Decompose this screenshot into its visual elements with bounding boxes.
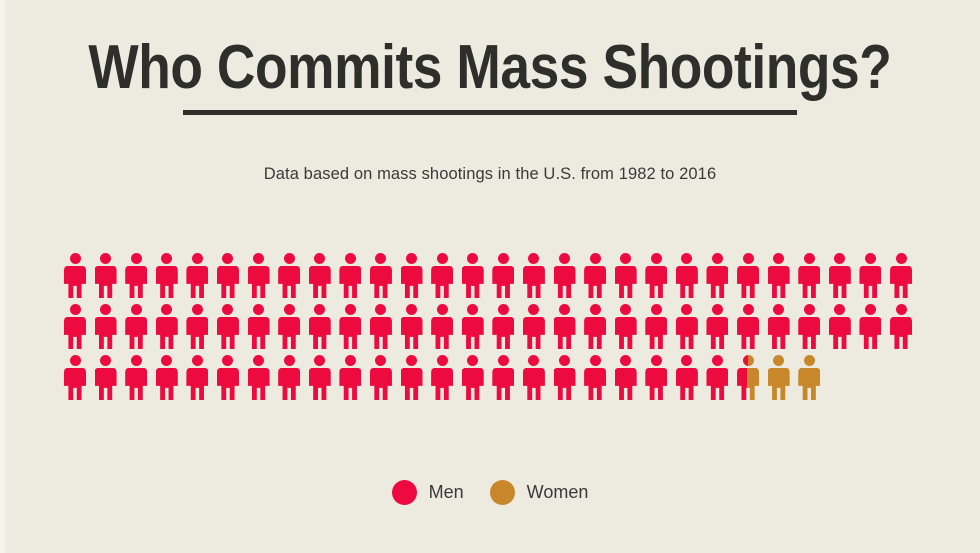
figure-body-shape — [186, 266, 208, 298]
figure-fill-men — [437, 304, 448, 315]
person-figure-icon — [615, 304, 637, 349]
figure-head — [222, 304, 233, 315]
person-figure-icon — [186, 304, 208, 349]
figure-fill-men — [804, 253, 815, 264]
figure-body-shape — [248, 266, 270, 298]
figure-body-shape — [186, 368, 208, 400]
person-figure-icon — [798, 253, 820, 298]
figure-body — [890, 317, 912, 349]
figure-body — [798, 368, 820, 400]
figure-fill-men — [559, 253, 570, 264]
person-figure-icon — [248, 355, 270, 400]
figure-body — [706, 317, 728, 349]
figure-fill-men — [681, 355, 692, 366]
figure-body — [339, 368, 361, 400]
figure-body — [829, 266, 851, 298]
person-figure-icon — [186, 253, 208, 298]
figure-head — [712, 253, 723, 264]
figure-body — [95, 317, 117, 349]
figure-fill-men — [131, 253, 142, 264]
figure-fill-men — [467, 304, 478, 315]
figure-head — [528, 304, 539, 315]
figure-fill-men — [375, 355, 386, 366]
figure-head — [498, 304, 509, 315]
legend-swatch-circle-icon — [392, 480, 417, 505]
figure-fill-men — [100, 355, 111, 366]
figure-head — [222, 253, 233, 264]
figure-body-shape — [492, 368, 514, 400]
figure-body-shape — [615, 368, 637, 400]
figure-head — [804, 355, 815, 366]
figure-head — [437, 304, 448, 315]
figure-body-shape — [370, 317, 392, 349]
figure-body — [676, 317, 698, 349]
figure-head — [192, 355, 203, 366]
figure-body — [737, 266, 759, 298]
figure-head — [284, 355, 295, 366]
figure-body-shape — [645, 317, 667, 349]
person-figure-icon — [401, 253, 423, 298]
figure-fill-men — [278, 266, 300, 298]
figure-head — [406, 253, 417, 264]
figure-body — [64, 266, 86, 298]
figure-fill-men — [222, 304, 233, 315]
figure-body-shape — [186, 317, 208, 349]
figure-fill-men — [253, 304, 264, 315]
figure-body-shape — [829, 317, 851, 349]
figure-body-shape — [278, 266, 300, 298]
figure-fill-men — [584, 266, 606, 298]
figure-body — [523, 317, 545, 349]
figure-fill-men — [406, 253, 417, 264]
figure-fill-men — [492, 368, 514, 400]
figure-fill-men — [859, 266, 881, 298]
figure-fill-men — [681, 253, 692, 264]
figure-body — [309, 317, 331, 349]
figure-fill-men — [253, 355, 264, 366]
figure-fill-men — [590, 304, 601, 315]
figure-head — [406, 304, 417, 315]
figure-body — [431, 266, 453, 298]
figure-fill-men — [743, 253, 754, 264]
figure-body — [798, 317, 820, 349]
figure-body — [217, 266, 239, 298]
figure-fill-men — [248, 368, 270, 400]
figure-fill-men — [217, 266, 239, 298]
figure-body — [645, 317, 667, 349]
figure-fill-men — [156, 266, 178, 298]
person-figure-icon — [370, 355, 392, 400]
figure-head — [620, 355, 631, 366]
legend-item-men[interactable]: Men — [392, 480, 464, 505]
person-figure-icon — [615, 355, 637, 400]
figure-body-shape — [370, 368, 392, 400]
legend-item-women[interactable]: Women — [490, 480, 589, 505]
person-figure-icon — [829, 253, 851, 298]
figure-body — [125, 317, 147, 349]
figure-fill-men — [462, 266, 484, 298]
figure-body — [462, 368, 484, 400]
person-figure-icon — [125, 253, 147, 298]
figure-body — [64, 317, 86, 349]
figure-head — [743, 355, 754, 366]
figure-body — [829, 317, 851, 349]
figure-fill-men — [309, 266, 331, 298]
person-figure-icon — [95, 304, 117, 349]
person-figure-icon — [768, 253, 790, 298]
figure-fill-men — [186, 266, 208, 298]
person-figure-icon — [645, 304, 667, 349]
figure-head — [100, 253, 111, 264]
figure-head — [620, 304, 631, 315]
figure-body-shape — [95, 266, 117, 298]
figure-body-shape — [431, 317, 453, 349]
figure-body-shape — [584, 266, 606, 298]
figure-fill-men — [834, 253, 845, 264]
figure-head — [375, 304, 386, 315]
person-figure-icon — [339, 253, 361, 298]
figure-head — [498, 355, 509, 366]
figure-fill-men — [278, 317, 300, 349]
figure-body — [278, 368, 300, 400]
figure-body-shape — [615, 266, 637, 298]
figure-fill-men — [156, 317, 178, 349]
figure-fill-men — [681, 304, 692, 315]
figure-fill-men — [620, 253, 631, 264]
figure-body — [737, 317, 759, 349]
person-figure-icon — [125, 355, 147, 400]
figure-body — [737, 368, 759, 400]
figure-fill-men — [462, 368, 484, 400]
figure-head — [437, 355, 448, 366]
figure-body-shape — [431, 266, 453, 298]
figure-fill-men — [217, 317, 239, 349]
person-figure-icon — [278, 355, 300, 400]
figure-fill-men — [743, 304, 754, 315]
figure-body-shape — [217, 368, 239, 400]
figure-head — [284, 304, 295, 315]
figure-head — [804, 253, 815, 264]
figure-fill-men — [100, 253, 111, 264]
figure-body — [768, 317, 790, 349]
figure-fill-men — [95, 368, 117, 400]
figure-head — [712, 304, 723, 315]
figure-body — [584, 317, 606, 349]
figure-fill-men — [70, 304, 81, 315]
person-figure-icon — [217, 304, 239, 349]
figure-fill-men — [896, 304, 907, 315]
figure-body-shape — [676, 368, 698, 400]
figure-head — [773, 355, 784, 366]
person-figure-icon — [431, 304, 453, 349]
figure-fill-men — [406, 355, 417, 366]
figure-fill-men — [523, 266, 545, 298]
person-figure-icon — [64, 355, 86, 400]
figure-fill-men — [70, 355, 81, 366]
figure-fill-men — [584, 317, 606, 349]
figure-body-shape — [462, 317, 484, 349]
figure-fill-men — [865, 253, 876, 264]
figure-body — [615, 368, 637, 400]
person-figure-icon — [492, 253, 514, 298]
person-figure-icon — [156, 355, 178, 400]
figure-fill-men — [95, 266, 117, 298]
figure-fill-men — [339, 368, 361, 400]
figure-body — [798, 266, 820, 298]
figure-fill-men — [70, 253, 81, 264]
figure-fill-men — [370, 368, 392, 400]
figure-fill-men — [467, 355, 478, 366]
figure-head — [314, 355, 325, 366]
figure-fill-men — [712, 355, 723, 366]
figure-fill-men — [161, 304, 172, 315]
figure-fill-women — [773, 355, 784, 366]
figure-fill-women — [748, 355, 754, 366]
figure-body — [768, 266, 790, 298]
figure-head — [70, 355, 81, 366]
figure-body — [186, 266, 208, 298]
figure-fill-men — [284, 304, 295, 315]
figure-body-shape — [584, 317, 606, 349]
figure-body-shape — [523, 266, 545, 298]
figure-head — [253, 304, 264, 315]
figure-body — [859, 317, 881, 349]
person-figure-icon — [462, 253, 484, 298]
figure-head — [467, 253, 478, 264]
figure-body — [186, 368, 208, 400]
person-figure-icon — [95, 253, 117, 298]
figure-body — [859, 266, 881, 298]
figure-body — [248, 317, 270, 349]
figure-body-shape — [156, 317, 178, 349]
page-title: Who Commits Mass Shootings? — [0, 36, 980, 99]
figure-head — [345, 253, 356, 264]
figure-body-shape — [523, 368, 545, 400]
figure-fill-men — [651, 253, 662, 264]
figure-head — [773, 304, 784, 315]
figure-head — [865, 304, 876, 315]
figure-head — [590, 355, 601, 366]
figure-body — [554, 317, 576, 349]
figure-fill-men — [64, 266, 86, 298]
person-figure-icon — [217, 355, 239, 400]
figure-head — [131, 355, 142, 366]
figure-head — [345, 304, 356, 315]
figure-fill-men — [125, 266, 147, 298]
figure-fill-men — [437, 355, 448, 366]
figure-body-shape — [125, 317, 147, 349]
figure-body — [401, 317, 423, 349]
person-figure-icon — [645, 355, 667, 400]
figure-head — [467, 304, 478, 315]
figure-head — [865, 253, 876, 264]
figure-fill-men — [431, 266, 453, 298]
figure-body-shape — [706, 368, 728, 400]
figure-fill-men — [125, 317, 147, 349]
figure-body — [156, 368, 178, 400]
figure-body-shape — [890, 266, 912, 298]
figure-head — [681, 253, 692, 264]
figure-body — [309, 266, 331, 298]
figure-head — [834, 304, 845, 315]
figure-fill-men — [314, 253, 325, 264]
person-figure-icon — [156, 304, 178, 349]
figure-fill-men — [156, 368, 178, 400]
figure-head — [70, 253, 81, 264]
person-figure-icon — [554, 253, 576, 298]
figure-head — [284, 253, 295, 264]
figure-body — [645, 368, 667, 400]
figure-body-shape — [217, 317, 239, 349]
figure-head — [131, 304, 142, 315]
person-figure-icon — [339, 304, 361, 349]
figure-fill-men — [192, 355, 203, 366]
figure-fill-men — [528, 355, 539, 366]
figure-body — [615, 266, 637, 298]
person-figure-icon — [859, 253, 881, 298]
figure-fill-men — [768, 266, 790, 298]
figure-fill-men — [645, 266, 667, 298]
figure-body — [584, 368, 606, 400]
figure-head — [498, 253, 509, 264]
figure-fill-men — [217, 368, 239, 400]
figure-fill-men — [370, 317, 392, 349]
figure-fill-men — [401, 317, 423, 349]
figure-fill-men — [559, 355, 570, 366]
figure-body-shape — [737, 266, 759, 298]
figure-head — [437, 253, 448, 264]
figure-body-shape — [156, 368, 178, 400]
figure-head — [314, 304, 325, 315]
person-figure-icon — [584, 355, 606, 400]
figure-fill-men — [651, 304, 662, 315]
person-figure-icon — [676, 355, 698, 400]
figure-body-shape — [125, 368, 147, 400]
figure-body-shape — [768, 266, 790, 298]
figure-body-shape — [64, 368, 86, 400]
figure-head — [375, 355, 386, 366]
person-figure-icon — [584, 253, 606, 298]
figure-fill-men — [896, 253, 907, 264]
person-figure-icon — [798, 355, 820, 400]
figure-body-shape — [309, 266, 331, 298]
figure-body-shape — [248, 317, 270, 349]
figure-body-shape — [584, 368, 606, 400]
person-figure-icon — [64, 304, 86, 349]
person-figure-icon — [890, 304, 912, 349]
figure-head — [253, 253, 264, 264]
figure-body-shape — [737, 368, 759, 400]
page-subtitle: Data based on mass shootings in the U.S.… — [0, 165, 980, 184]
figure-fill-men — [339, 266, 361, 298]
figure-fill-men — [492, 317, 514, 349]
figure-head — [131, 253, 142, 264]
figure-fill-men — [615, 368, 637, 400]
figure-body-shape — [645, 368, 667, 400]
figure-fill-women — [804, 355, 815, 366]
figure-fill-men — [309, 368, 331, 400]
figure-head — [528, 253, 539, 264]
person-figure-icon — [370, 253, 392, 298]
figure-fill-men — [590, 253, 601, 264]
person-figure-icon — [309, 253, 331, 298]
figure-body-shape — [339, 266, 361, 298]
figure-body-shape — [798, 266, 820, 298]
figure-body-shape — [278, 317, 300, 349]
pictogram-row — [64, 304, 944, 352]
page-title-text: Who Commits Mass Shootings? — [88, 36, 891, 99]
figure-fill-men — [676, 317, 698, 349]
figure-body-shape — [278, 368, 300, 400]
figure-body — [125, 368, 147, 400]
figure-body — [462, 317, 484, 349]
figure-fill-men — [431, 368, 453, 400]
figure-head — [743, 253, 754, 264]
figure-fill-men — [584, 368, 606, 400]
figure-fill-men — [590, 355, 601, 366]
person-figure-icon — [309, 304, 331, 349]
figure-fill-men — [309, 317, 331, 349]
figure-fill-men — [798, 317, 820, 349]
figure-fill-men — [284, 253, 295, 264]
figure-body-shape — [615, 317, 637, 349]
person-figure-icon — [829, 304, 851, 349]
figure-head — [896, 304, 907, 315]
figure-fill-men — [192, 304, 203, 315]
figure-fill-men — [706, 317, 728, 349]
figure-body — [523, 368, 545, 400]
person-figure-icon — [278, 304, 300, 349]
figure-fill-men — [773, 304, 784, 315]
figure-head — [100, 355, 111, 366]
figure-body — [615, 317, 637, 349]
figure-body-shape — [309, 317, 331, 349]
person-figure-icon — [186, 355, 208, 400]
figure-fill-men — [798, 266, 820, 298]
figure-body — [554, 368, 576, 400]
person-figure-icon — [64, 253, 86, 298]
figure-head — [100, 304, 111, 315]
figure-head — [590, 304, 601, 315]
person-figure-icon — [492, 355, 514, 400]
figure-head — [467, 355, 478, 366]
figure-fill-men — [498, 253, 509, 264]
figure-body — [584, 266, 606, 298]
figure-fill-men — [284, 355, 295, 366]
figure-body — [401, 266, 423, 298]
figure-head — [161, 253, 172, 264]
person-figure-icon — [798, 304, 820, 349]
figure-fill-men — [890, 317, 912, 349]
figure-fill-women — [768, 368, 790, 400]
figure-head — [651, 304, 662, 315]
figure-fill-men — [737, 368, 747, 400]
figure-fill-men — [314, 304, 325, 315]
figure-body-shape — [492, 317, 514, 349]
figure-fill-men — [804, 304, 815, 315]
figure-head — [834, 253, 845, 264]
figure-fill-men — [523, 317, 545, 349]
figure-body — [370, 368, 392, 400]
figure-body — [492, 368, 514, 400]
person-figure-icon — [370, 304, 392, 349]
figure-fill-men — [192, 253, 203, 264]
figure-body — [156, 266, 178, 298]
figure-body-shape — [554, 266, 576, 298]
figure-fill-men — [339, 317, 361, 349]
figure-body-shape — [768, 368, 790, 400]
figure-fill-men — [278, 368, 300, 400]
